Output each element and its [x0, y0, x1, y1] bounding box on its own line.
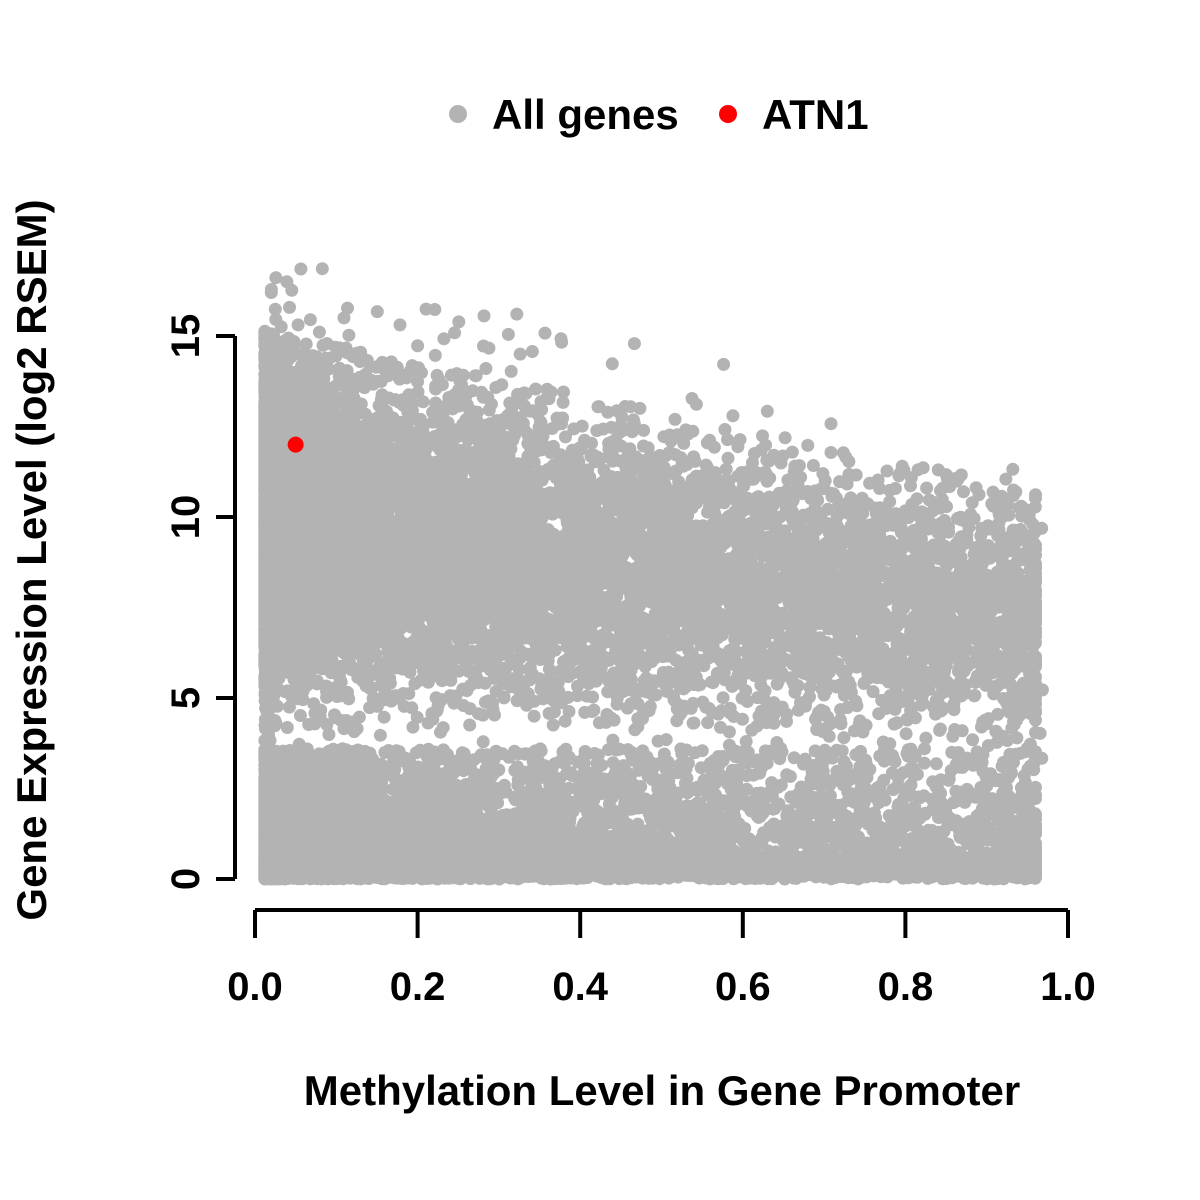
x-tick-label: 0.0 — [227, 965, 283, 1009]
legend-marker-atn1 — [719, 105, 737, 123]
y-tick-label: 0 — [164, 868, 208, 890]
x-tick-label: 1.0 — [1040, 965, 1096, 1009]
y-tick-label: 10 — [164, 495, 208, 540]
y-tick-label: 15 — [164, 314, 208, 359]
x-tick-label: 0.8 — [878, 965, 934, 1009]
atn1-point[interactable] — [288, 437, 304, 453]
x-tick-label: 0.2 — [390, 965, 446, 1009]
x-axis-title: Methylation Level in Gene Promoter — [304, 1067, 1020, 1114]
x-tick-label: 0.4 — [552, 965, 608, 1009]
scatter-plot-figure: 0510150.00.20.40.60.81.0 Methylation Lev… — [0, 0, 1200, 1200]
legend-marker-all-genes — [449, 105, 467, 123]
y-tick-label: 5 — [164, 687, 208, 709]
legend: All genes ATN1 — [449, 91, 869, 138]
y-axis-title: Gene Expression Level (log2 RSEM) — [8, 199, 55, 920]
plot-canvas: 0510150.00.20.40.60.81.0 Methylation Lev… — [0, 0, 1200, 1200]
legend-label-atn1: ATN1 — [762, 91, 869, 138]
legend-label-all-genes: All genes — [492, 91, 679, 138]
x-tick-label: 0.6 — [715, 965, 771, 1009]
atn1-highlight-point[interactable] — [288, 437, 304, 453]
